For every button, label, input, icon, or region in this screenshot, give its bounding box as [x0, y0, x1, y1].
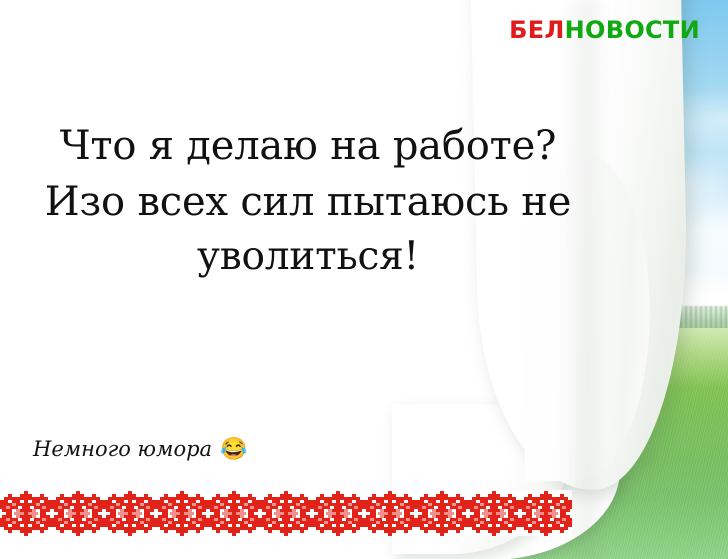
joke-line-2: Изо всех сил пытаюсь не — [28, 174, 588, 230]
face-with-tears-of-joy-icon: 😂 — [220, 438, 247, 460]
caption-label: Немного юмора — [33, 437, 212, 461]
meme-image-canvas: БЕЛНОВОСТИ Что я делаю на работе? Изо вс… — [0, 0, 728, 559]
caption-block: Немного юмора 😂 — [33, 437, 247, 461]
logo-text-novosti: НОВОСТИ — [565, 16, 700, 44]
joke-line-1: Что я делаю на работе? — [28, 118, 588, 174]
ornament-pattern — [0, 490, 572, 536]
belarusian-ornament-border — [0, 490, 572, 536]
logo-text-bel: БЕЛ — [509, 16, 565, 44]
joke-line-3: уволиться! — [28, 230, 588, 285]
joke-text-block: Что я делаю на работе? Изо всех сил пыта… — [28, 118, 588, 285]
site-logo[interactable]: БЕЛНОВОСТИ — [509, 18, 700, 42]
